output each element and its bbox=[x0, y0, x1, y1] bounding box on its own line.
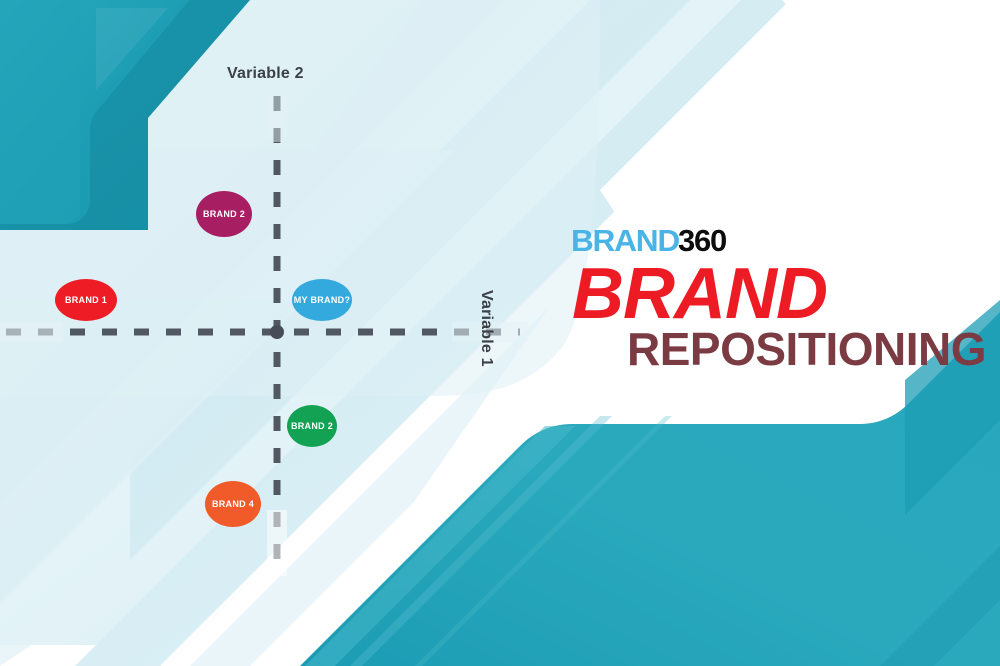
poster-canvas: Variable 2 Variable 1 BRAND 1BRAND 2MY B… bbox=[0, 0, 1000, 666]
logo-word-brand: BRAND bbox=[571, 225, 679, 256]
brand-bubble-label: BRAND 2 bbox=[291, 421, 333, 431]
brand-bubble[interactable]: BRAND 2 bbox=[287, 405, 337, 447]
brand-bubble[interactable]: BRAND 4 bbox=[205, 481, 261, 527]
brand360-logo: BRAND360 bbox=[572, 225, 992, 256]
headline-line-2: REPOSITIONING bbox=[572, 326, 992, 372]
brand-headline-block: BRAND360 BRAND REPOSITIONING bbox=[572, 225, 992, 372]
logo-word-360: 360 bbox=[678, 225, 726, 256]
brand-bubble[interactable]: MY BRAND? bbox=[292, 279, 352, 321]
brand-bubble-label: MY BRAND? bbox=[294, 295, 351, 305]
brand-bubble[interactable]: BRAND 1 bbox=[55, 279, 117, 321]
brand-bubble-label: BRAND 4 bbox=[212, 499, 254, 509]
brand-bubble[interactable]: BRAND 2 bbox=[196, 191, 252, 237]
headline-line-1: BRAND bbox=[572, 260, 992, 328]
brand-bubble-label: BRAND 1 bbox=[65, 295, 107, 305]
brand-bubble-label: BRAND 2 bbox=[203, 209, 245, 219]
